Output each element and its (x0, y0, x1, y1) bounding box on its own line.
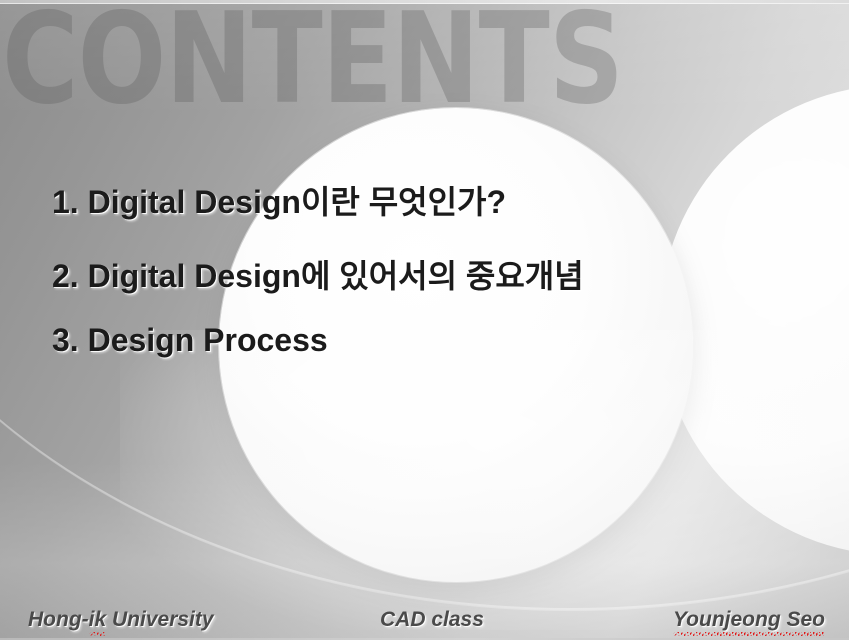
footer-right: Younjeong Seo (673, 608, 825, 632)
contents-list: 1. Digital Design이란 무엇인가? 2. Digital Des… (52, 186, 812, 356)
footer-right-label: Younjeong Seo (673, 608, 825, 631)
presentation-slide: CONTENTS 1. Digital Design이란 무엇인가? 2. Di… (0, 0, 849, 640)
contents-item-1: 1. Digital Design이란 무엇인가? (52, 186, 812, 218)
slide-top-border (0, 0, 849, 4)
contents-item-3: 3. Design Process (52, 324, 812, 356)
contents-item-2: 2. Digital Design에 있어서의 중요개념 (52, 260, 812, 292)
footer-left-rest: University (112, 608, 214, 631)
footer-left-misspelled: ik (89, 608, 107, 631)
spellcheck-underline-left: ik (89, 608, 107, 632)
slide-footer: Hong-ik University CAD class Younjeong S… (0, 598, 849, 632)
footer-left: Hong-ik University (28, 608, 214, 632)
footer-left-prefix: Hong- (28, 608, 89, 631)
footer-center: CAD class (380, 608, 484, 632)
spellcheck-underline-right: Younjeong Seo (673, 608, 825, 632)
